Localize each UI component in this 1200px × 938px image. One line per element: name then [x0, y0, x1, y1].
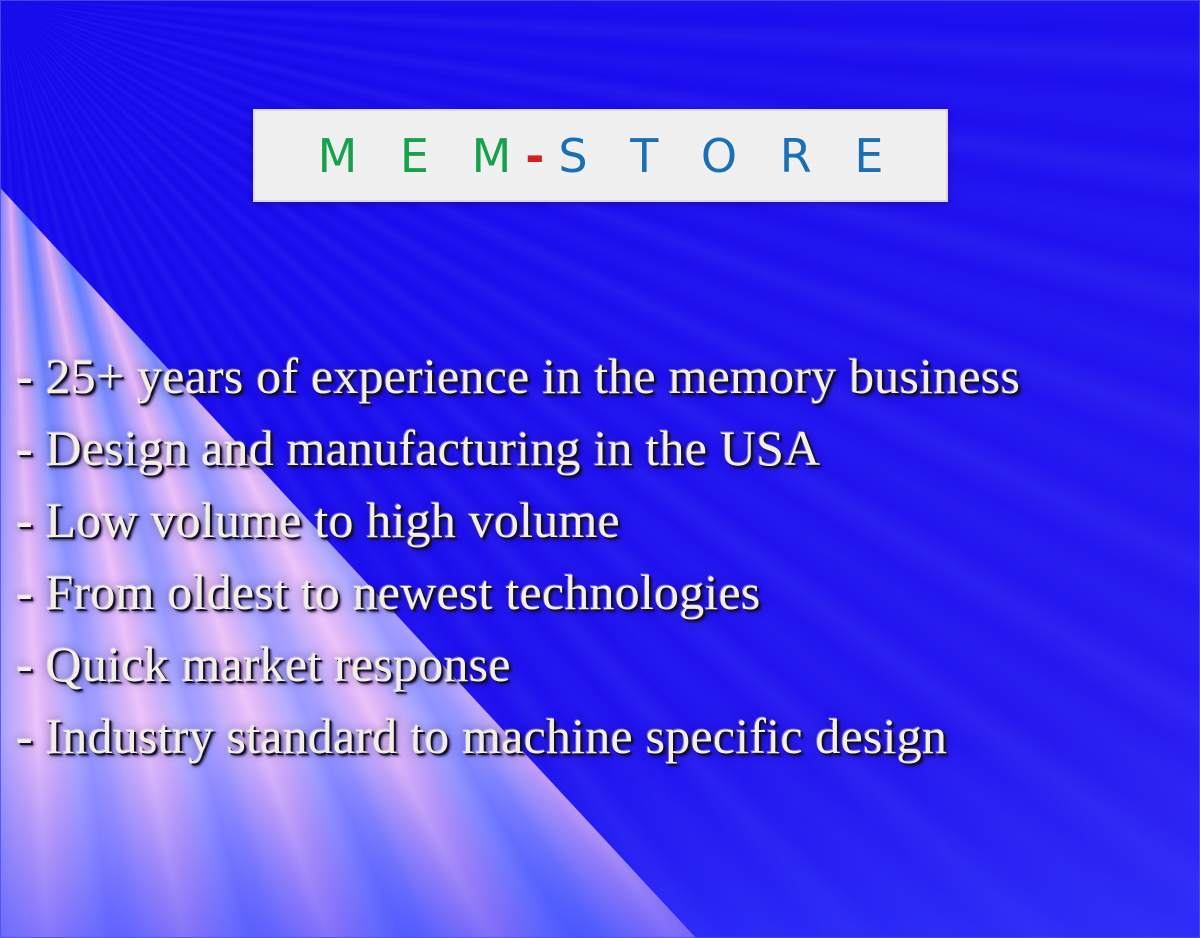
company-logo-plate: M E M-S T O R E — [253, 109, 948, 202]
bullet-item-6: - Industry standard to machine specific … — [16, 700, 1196, 772]
feature-bullet-list: - 25+ years of experience in the memory … — [16, 340, 1196, 772]
bullet-item-1: - 25+ years of experience in the memory … — [16, 340, 1196, 412]
bullet-item-4: - From oldest to newest technologies — [16, 556, 1196, 628]
slide-canvas: M E M-S T O R E - 25+ years of experienc… — [0, 0, 1200, 938]
bullet-item-5: - Quick market response — [16, 628, 1196, 700]
company-logo-text: M E M-S T O R E — [304, 133, 898, 179]
bullet-item-3: - Low volume to high volume — [16, 484, 1196, 556]
logo-word-store: S T O R E — [558, 129, 897, 183]
logo-word-mem: M E M — [318, 129, 526, 183]
bullet-item-2: - Design and manufacturing in the USA — [16, 412, 1196, 484]
logo-hyphen-icon: - — [525, 129, 558, 183]
